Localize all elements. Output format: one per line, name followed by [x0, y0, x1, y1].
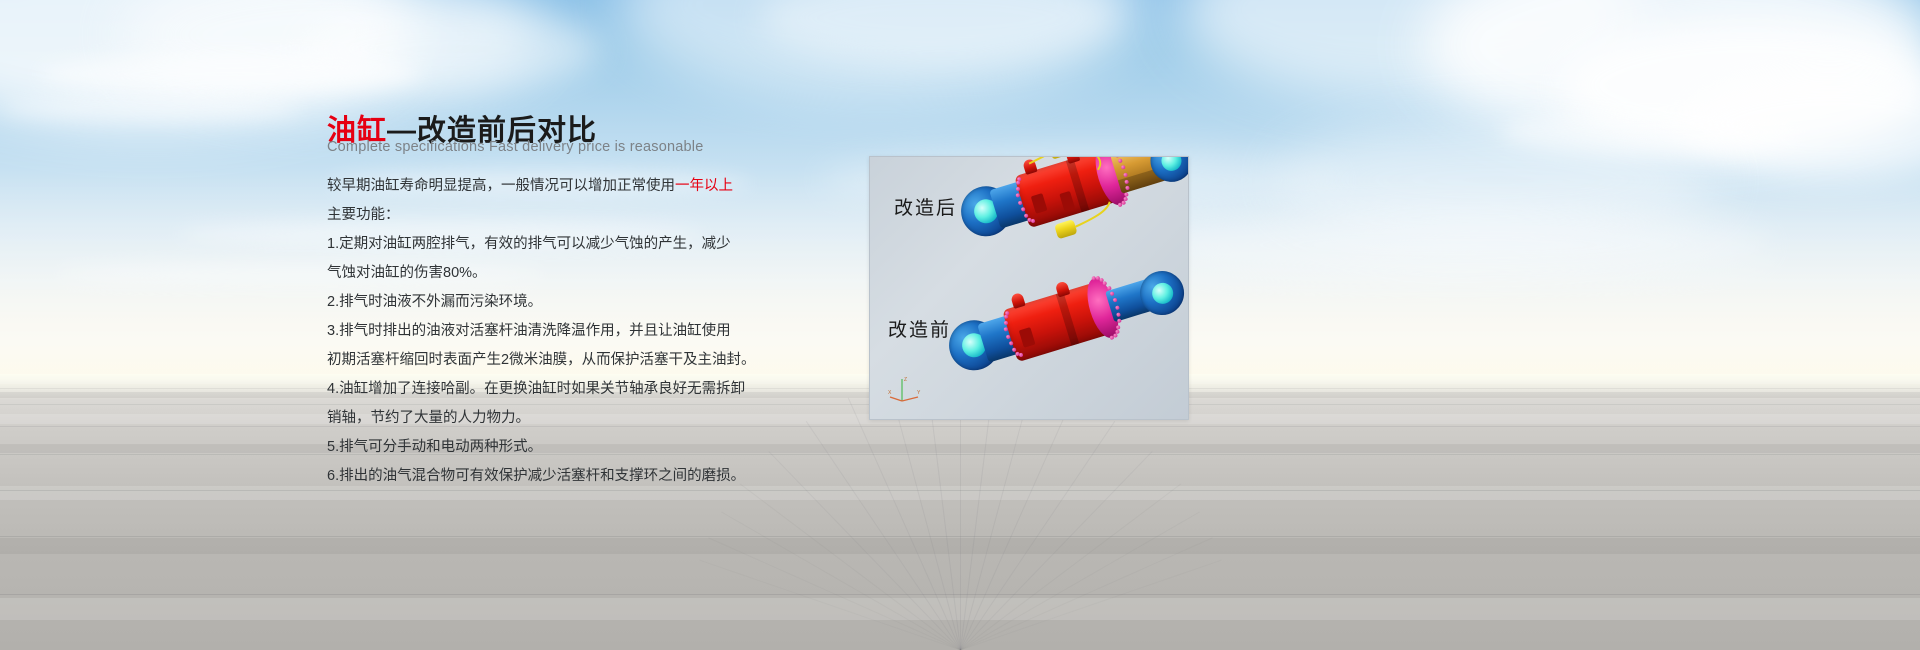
- body-line-8: 4.油缸增加了连接哈副。在更换油缸时如果关节轴承良好无需拆卸: [327, 375, 747, 404]
- svg-text:X: X: [888, 390, 892, 396]
- cylinder-before-modification: [936, 237, 1189, 420]
- body-line-7: 初期活塞杆缩回时表面产生2微米油膜，从而保护活塞干及主油封。: [327, 346, 747, 375]
- body-line-1: 较早期油缸寿命明显提高，一般情况可以增加正常使用一年以上: [327, 172, 747, 201]
- body-line-11: 6.排出的油气混合物可有效保护减少活塞杆和支撑环之间的磨损。: [327, 462, 747, 491]
- svg-text:Z: Z: [904, 377, 907, 383]
- body-line-3: 1.定期对油缸两腔排气，有效的排气可以减少气蚀的产生，减少: [327, 230, 747, 259]
- body-line-4: 气蚀对油缸的伤害80%。: [327, 259, 747, 288]
- body-line-1-highlight: 一年以上: [675, 178, 733, 194]
- banner-content: 油缸—改造前后对比 Complete specifications Fast d…: [0, 0, 1920, 650]
- svg-text:Y: Y: [917, 390, 921, 396]
- coordinate-axis-icon: Z X Y: [888, 375, 922, 405]
- body-line-6: 3.排气时排出的油液对活塞杆油清洗降温作用，并且让油缸使用: [327, 317, 747, 346]
- body-line-2: 主要功能：: [327, 201, 747, 230]
- flange-bolt: [1103, 281, 1108, 286]
- body-line-10: 5.排气可分手动和电动两种形式。: [327, 433, 747, 462]
- body-line-9: 销轴，节约了大量的人力物力。: [327, 404, 747, 433]
- body-line-1-text: 较早期油缸寿命明显提高，一般情况可以增加正常使用: [327, 178, 675, 194]
- comparison-image-panel: 改造后 改造前 Z X Y: [869, 156, 1189, 420]
- body-line-5: 2.排气时油液不外漏而污染环境。: [327, 288, 747, 317]
- label-after-modification: 改造后: [894, 193, 957, 220]
- banner-stage: 油缸—改造前后对比 Complete specifications Fast d…: [0, 0, 1920, 650]
- page-subtitle: Complete specifications Fast delivery pr…: [327, 139, 703, 155]
- body-copy: 较早期油缸寿命明显提高，一般情况可以增加正常使用一年以上 主要功能： 1.定期对…: [327, 172, 747, 491]
